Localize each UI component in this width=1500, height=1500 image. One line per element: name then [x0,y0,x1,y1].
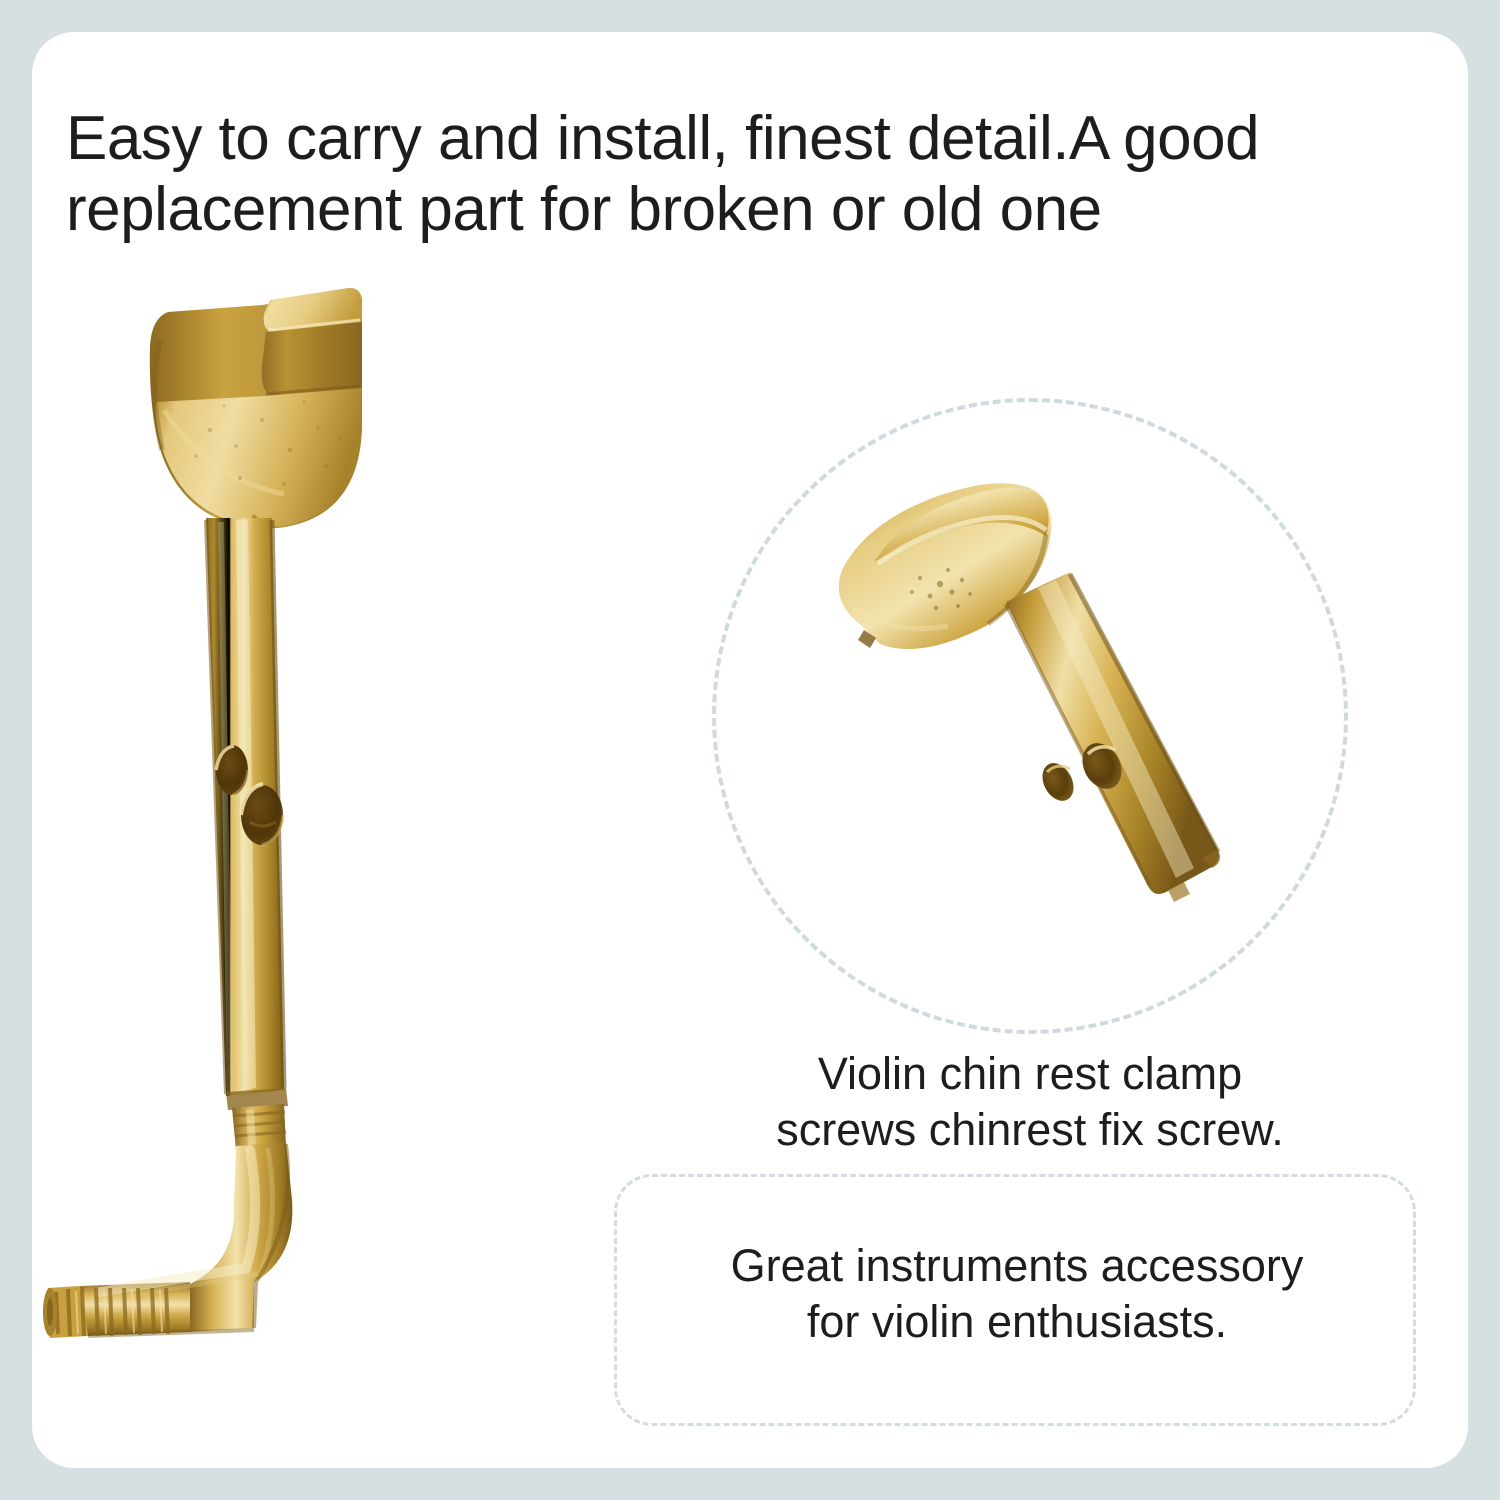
main-product-image [40,270,560,1350]
page-title: Easy to carry and install, finest detail… [66,104,1456,245]
product-infographic: Easy to carry and install, finest detail… [0,0,1500,1500]
inset-clamp-barrel [1006,572,1220,902]
clamp-rod [43,1142,292,1338]
inset-adjustment-hole-lower [1036,758,1080,806]
clamp-head [150,288,362,528]
adjustment-hole-upper [216,745,248,795]
callout-box-caption: Great instruments accessory for violin e… [634,1238,1400,1350]
threaded-collar [226,1088,288,1150]
callout-circle-caption: Violin chin rest clamp screws chinrest f… [660,1046,1400,1158]
inset-product-image [770,430,1330,970]
clamp-barrel [206,518,284,1096]
